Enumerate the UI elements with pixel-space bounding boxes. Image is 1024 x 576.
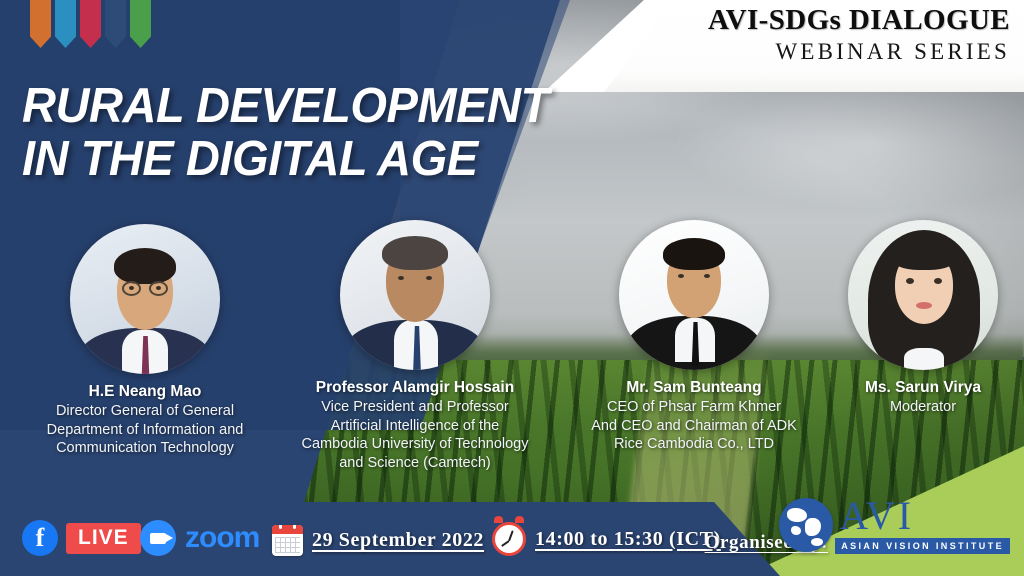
- speaker-card-3: Mr. Sam Bunteang CEO of Phsar Farm Khmer…: [560, 220, 828, 454]
- avi-wordmark: AVI: [835, 498, 1010, 535]
- zoom-group[interactable]: zoom: [140, 520, 259, 556]
- event-date: 29 September 2022: [312, 529, 484, 552]
- avatar-sarun-virya: [848, 220, 998, 370]
- speaker-role: CEO of Phsar Farm Khmer And CEO and Chai…: [560, 398, 828, 454]
- speaker-role: Moderator: [828, 398, 1018, 417]
- clock-icon: [492, 522, 526, 556]
- speaker-card-1: H.E Neang Mao Director General of Genera…: [15, 224, 275, 458]
- speaker-role: Vice President and Professor Artificial …: [272, 398, 558, 472]
- event-time: 14:00 to 15:30 (ICT): [535, 528, 721, 551]
- globe-icon: [779, 498, 833, 552]
- avatar-alamgir-hossain: [340, 220, 490, 370]
- speaker-card-4: Ms. Sarun Virya Moderator: [828, 220, 1018, 417]
- speaker-name: Ms. Sarun Virya: [828, 379, 1018, 397]
- header-block: AVI-SDGs DIALOGUE WEBINAR SERIES: [590, 4, 1010, 65]
- avatar-sam-bunteang: [619, 220, 769, 370]
- speaker-role: Director General of General Department o…: [15, 402, 275, 458]
- date-group: 29 September 2022: [272, 525, 484, 556]
- speakers-row: H.E Neang Mao Director General of Genera…: [0, 224, 1024, 514]
- facebook-icon[interactable]: f: [22, 520, 58, 556]
- sdg-bar-red: [80, 0, 101, 48]
- sdg-bar-orange: [30, 0, 51, 48]
- facebook-live-group[interactable]: f LIVE: [22, 520, 141, 556]
- time-group: 14:00 to 15:30 (ICT): [492, 522, 721, 556]
- series-subtitle: WEBINAR SERIES: [590, 39, 1010, 65]
- page-title: RURAL DEVELOPMENT IN THE DIGITAL AGE: [22, 80, 694, 186]
- sdg-bar-green: [130, 0, 151, 48]
- calendar-icon: [272, 525, 303, 556]
- sdg-bar-blue: [55, 0, 76, 48]
- speaker-name: Mr. Sam Bunteang: [560, 379, 828, 397]
- title-line-2: IN THE DIGITAL AGE: [22, 133, 694, 186]
- zoom-wordmark: zoom: [185, 521, 259, 555]
- sdg-bars-logo: [30, 0, 151, 48]
- avatar-neang-mao: [70, 224, 220, 374]
- speaker-card-2: Professor Alamgir Hossain Vice President…: [272, 220, 558, 472]
- zoom-camera-icon[interactable]: [140, 520, 176, 556]
- webinar-poster: AVI-SDGs DIALOGUE WEBINAR SERIES RURAL D…: [0, 0, 1024, 576]
- speaker-name: Professor Alamgir Hossain: [272, 379, 558, 397]
- speaker-name: H.E Neang Mao: [15, 383, 275, 401]
- avi-subtitle: ASIAN VISION INSTITUTE: [835, 538, 1010, 554]
- series-title: AVI-SDGs DIALOGUE: [590, 4, 1010, 37]
- live-badge: LIVE: [66, 523, 141, 554]
- avi-logo: AVI ASIAN VISION INSTITUTE: [779, 498, 1010, 554]
- sdg-bar-navy: [105, 0, 126, 48]
- title-line-1: RURAL DEVELOPMENT: [22, 80, 694, 133]
